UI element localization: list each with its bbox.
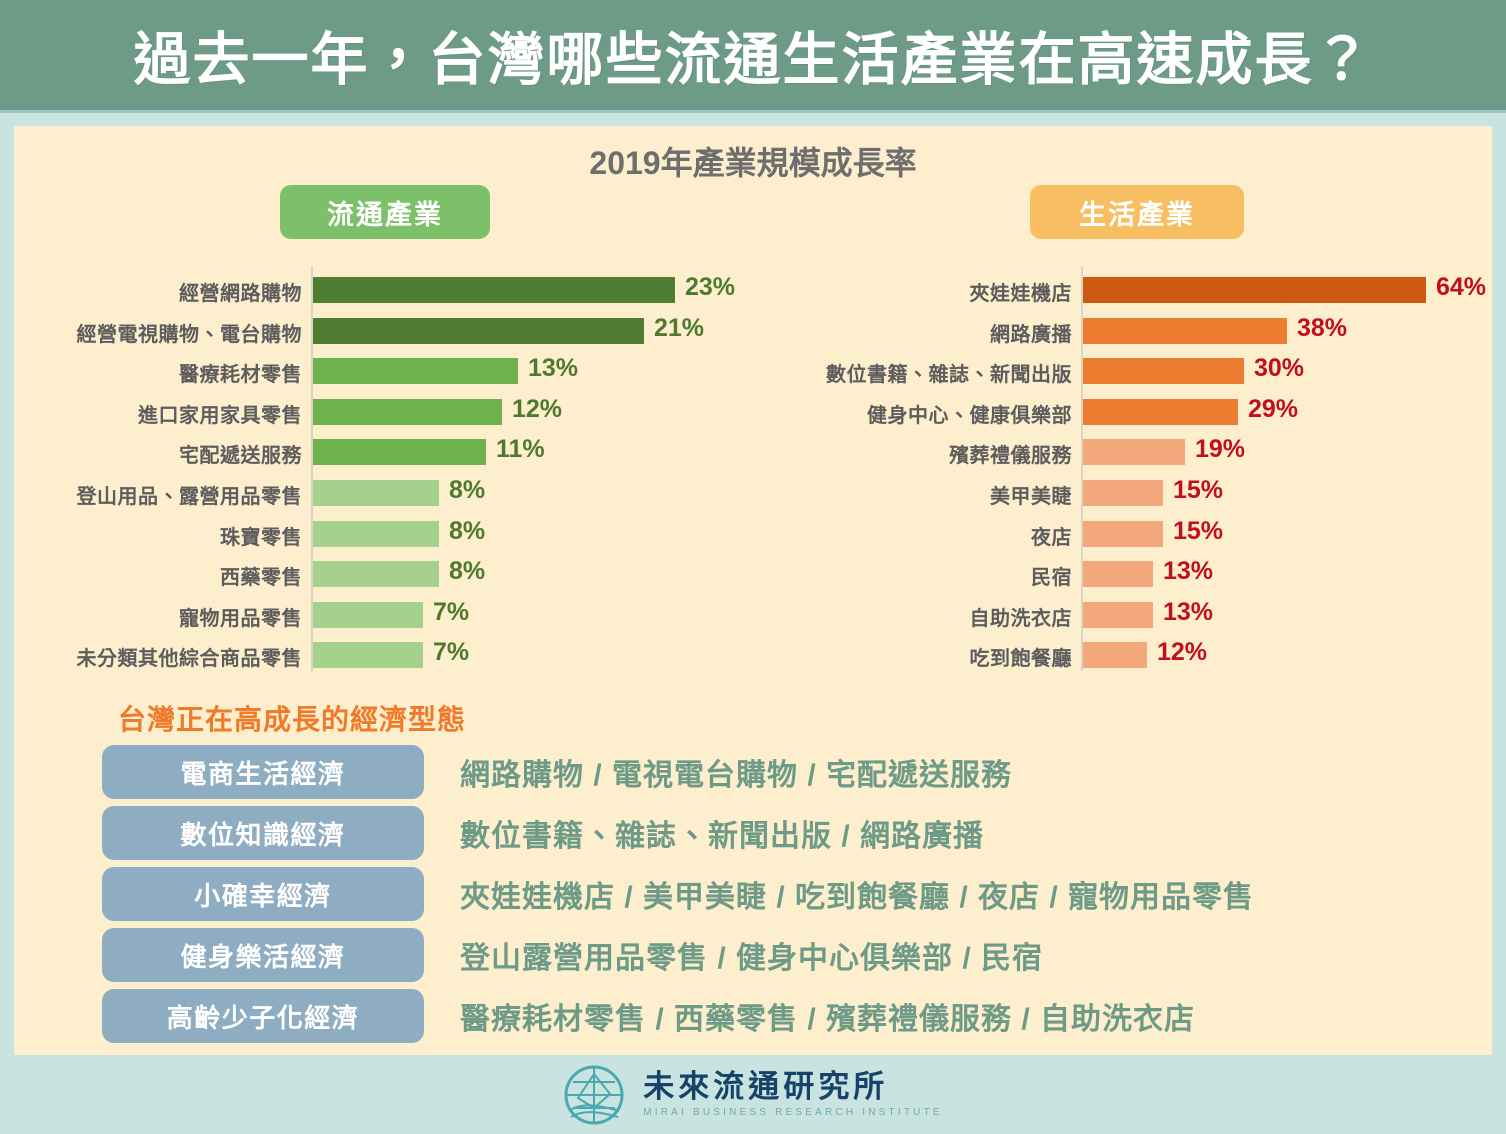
economy-type-row: 小確幸經濟夾娃娃機店 / 美甲美睫 / 吃到飽餐廳 / 夜店 / 寵物用品零售: [102, 864, 1492, 925]
bar-category-label: 未分類其他綜合商品零售: [14, 642, 302, 671]
chart-bar: [1083, 480, 1163, 506]
main-content-panel: 2019年產業規模成長率 流通產業 生活產業 經營網路購物23%經營電視購物、電…: [14, 126, 1492, 1055]
bar-category-label: 殯葬禮儀服務: [754, 439, 1072, 468]
bar-category-label: 健身中心、健康俱樂部: [754, 399, 1072, 428]
economy-type-badge: 小確幸經濟: [102, 867, 424, 921]
chart-bar-row: 經營電視購物、電台購物21%: [14, 311, 754, 352]
economy-section-heading: 台灣正在高成長的經濟型態: [118, 698, 466, 738]
chart-bar-row: 夜店15%: [754, 514, 1492, 555]
chart-title: 2019年產業規模成長率: [14, 138, 1492, 184]
chart-bar: [313, 318, 644, 344]
chart-bar: [313, 480, 439, 506]
chart-bar-row: 經營網路購物23%: [14, 270, 754, 311]
bar-value-label: 7%: [433, 598, 469, 627]
footer-bar: 未來流通研究所 MIRAI BUSINESS RESEARCH INSTITUT…: [0, 1055, 1506, 1134]
economy-type-badge: 數位知識經濟: [102, 806, 424, 860]
chart-bar: [1083, 602, 1153, 628]
chart-bar-row: 健身中心、健康俱樂部29%: [754, 392, 1492, 433]
bar-value-label: 19%: [1195, 435, 1245, 464]
bar-value-label: 8%: [449, 557, 485, 586]
chart-bar-row: 醫療耗材零售13%: [14, 351, 754, 392]
bar-value-label: 23%: [685, 273, 735, 302]
economy-type-description: 夾娃娃機店 / 美甲美睫 / 吃到飽餐廳 / 夜店 / 寵物用品零售: [460, 867, 1254, 921]
bar-value-label: 13%: [1163, 598, 1213, 627]
economy-type-row: 電商生活經濟網路購物 / 電視電台購物 / 宅配遞送服務: [102, 742, 1492, 803]
bar-value-label: 12%: [512, 395, 562, 424]
chart-bar: [1083, 399, 1238, 425]
chart-bar-row: 珠寶零售8%: [14, 514, 754, 555]
chart-bar: [313, 602, 423, 628]
bar-value-label: 8%: [449, 476, 485, 505]
bar-category-label: 民宿: [754, 561, 1072, 590]
mirai-globe-logo-icon: [563, 1064, 625, 1126]
bar-value-label: 8%: [449, 517, 485, 546]
chart-bar-row: 夾娃娃機店64%: [754, 270, 1492, 311]
bar-value-label: 13%: [1163, 557, 1213, 586]
economy-type-description: 醫療耗材零售 / 西藥零售 / 殯葬禮儀服務 / 自助洗衣店: [460, 989, 1195, 1043]
bar-value-label: 11%: [496, 435, 545, 464]
bar-category-label: 醫療耗材零售: [14, 358, 302, 387]
economy-type-description: 數位書籍、雜誌、新聞出版 / 網路廣播: [460, 806, 984, 860]
chart-bar: [313, 399, 502, 425]
bar-chart-distribution-industry: 經營網路購物23%經營電視購物、電台購物21%醫療耗材零售13%進口家用家具零售…: [14, 266, 754, 671]
bar-category-label: 經營電視購物、電台購物: [14, 318, 302, 347]
chart-bar-row: 西藥零售8%: [14, 554, 754, 595]
economy-type-badge: 電商生活經濟: [102, 745, 424, 799]
economy-type-description: 網路購物 / 電視電台購物 / 宅配遞送服務: [460, 745, 1012, 799]
bar-value-label: 13%: [528, 354, 578, 383]
chart-bar: [1083, 318, 1287, 344]
bar-category-label: 美甲美睫: [754, 480, 1072, 509]
chart-bar: [313, 439, 486, 465]
bar-category-label: 自助洗衣店: [754, 602, 1072, 631]
bar-value-label: 12%: [1157, 638, 1207, 667]
chart-bar: [1083, 561, 1153, 587]
bar-category-label: 進口家用家具零售: [14, 399, 302, 428]
economy-type-row: 健身樂活經濟登山露營用品零售 / 健身中心俱樂部 / 民宿: [102, 925, 1492, 986]
chart-bar: [313, 521, 439, 547]
bar-value-label: 15%: [1173, 517, 1223, 546]
economy-type-description: 登山露營用品零售 / 健身中心俱樂部 / 民宿: [460, 928, 1043, 982]
chart-bar-row: 進口家用家具零售12%: [14, 392, 754, 433]
chart-bar-row: 未分類其他綜合商品零售7%: [14, 635, 754, 676]
economy-type-list: 電商生活經濟網路購物 / 電視電台購物 / 宅配遞送服務數位知識經濟數位書籍、雜…: [102, 742, 1492, 1047]
bar-value-label: 7%: [433, 638, 469, 667]
chart-bar: [313, 358, 518, 384]
bar-category-label: 夾娃娃機店: [754, 277, 1072, 306]
bar-chart-lifestyle-industry: 夾娃娃機店64%網路廣播38%數位書籍、雜誌、新聞出版30%健身中心、健康俱樂部…: [754, 266, 1492, 671]
chart-bar-row: 宅配遞送服務11%: [14, 432, 754, 473]
bar-value-label: 15%: [1173, 476, 1223, 505]
logo-text-en: MIRAI BUSINESS RESEARCH INSTITUTE: [643, 1107, 943, 1118]
chart-bar-row: 登山用品、露營用品零售8%: [14, 473, 754, 514]
chart-bar-row: 數位書籍、雜誌、新聞出版30%: [754, 351, 1492, 392]
economy-type-row: 數位知識經濟數位書籍、雜誌、新聞出版 / 網路廣播: [102, 803, 1492, 864]
category-badge-lifestyle: 生活產業: [1030, 185, 1244, 239]
chart-bar: [1083, 277, 1426, 303]
chart-bar: [313, 561, 439, 587]
bar-category-label: 經營網路購物: [14, 277, 302, 306]
chart-bar: [1083, 642, 1147, 668]
chart-bar: [1083, 358, 1244, 384]
chart-bar-row: 吃到飽餐廳12%: [754, 635, 1492, 676]
category-badge-distribution: 流通產業: [280, 185, 490, 239]
chart-bar-row: 網路廣播38%: [754, 311, 1492, 352]
bar-category-label: 吃到飽餐廳: [754, 642, 1072, 671]
logo-text-zh: 未來流通研究所: [643, 1071, 943, 1104]
bar-category-label: 寵物用品零售: [14, 602, 302, 631]
chart-bar: [313, 642, 423, 668]
bar-value-label: 30%: [1254, 354, 1304, 383]
chart-bar: [1083, 521, 1163, 547]
chart-bar-row: 殯葬禮儀服務19%: [754, 432, 1492, 473]
bar-category-label: 宅配遞送服務: [14, 439, 302, 468]
economy-type-row: 高齡少子化經濟醫療耗材零售 / 西藥零售 / 殯葬禮儀服務 / 自助洗衣店: [102, 986, 1492, 1047]
chart-bar-row: 自助洗衣店13%: [754, 595, 1492, 636]
chart-bar-row: 美甲美睫15%: [754, 473, 1492, 514]
page-title: 過去一年，台灣哪些流通生活產業在高速成長？: [134, 14, 1373, 96]
chart-bar: [313, 277, 675, 303]
bar-category-label: 登山用品、露營用品零售: [14, 480, 302, 509]
economy-type-badge: 健身樂活經濟: [102, 928, 424, 982]
bar-category-label: 西藥零售: [14, 561, 302, 590]
bar-value-label: 38%: [1297, 314, 1347, 343]
bar-value-label: 21%: [654, 314, 704, 343]
bar-value-label: 29%: [1248, 395, 1298, 424]
header-bar: 過去一年，台灣哪些流通生活產業在高速成長？: [0, 0, 1506, 110]
bar-category-label: 數位書籍、雜誌、新聞出版: [754, 358, 1072, 387]
economy-type-badge: 高齡少子化經濟: [102, 989, 424, 1043]
bar-value-label: 64%: [1436, 273, 1486, 302]
bar-category-label: 珠寶零售: [14, 521, 302, 550]
chart-bar-row: 民宿13%: [754, 554, 1492, 595]
chart-bar: [1083, 439, 1185, 465]
bar-category-label: 夜店: [754, 521, 1072, 550]
chart-bar-row: 寵物用品零售7%: [14, 595, 754, 636]
bar-category-label: 網路廣播: [754, 318, 1072, 347]
